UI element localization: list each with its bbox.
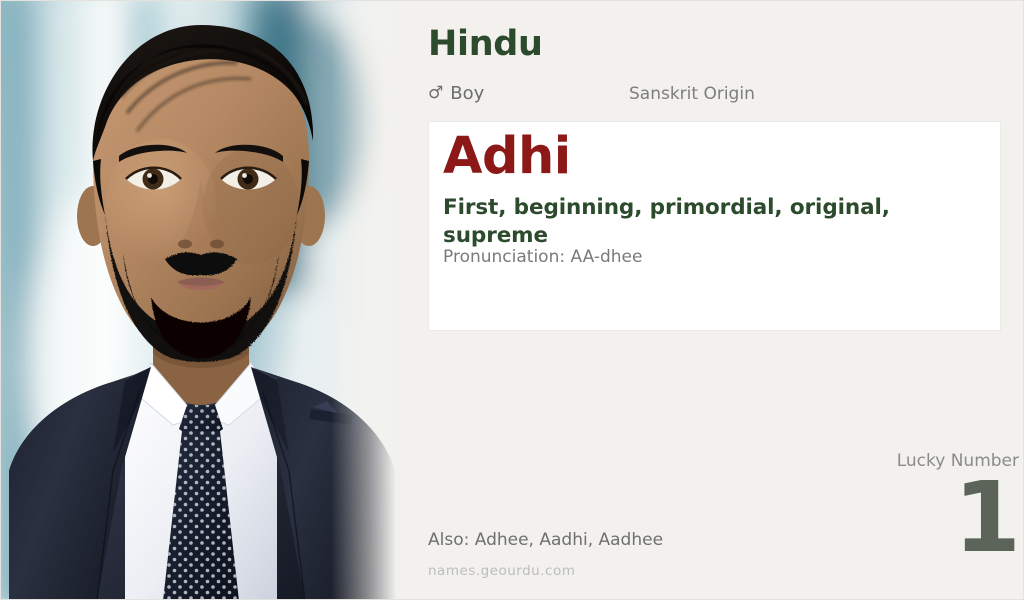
male-gender-icon: ♂ [428, 85, 443, 102]
name-meta-row: ♂ Boy Sanskrit Origin [428, 83, 1008, 107]
name-details-panel: Hindu ♂ Boy Sanskrit Origin Adhi First, … [428, 1, 1024, 600]
name-title: Adhi [443, 130, 571, 184]
portrait-photo-panel [1, 1, 401, 600]
alternate-spellings: Also: Adhee, Aadhi, Aadhee [428, 530, 663, 550]
portrait-photo [1, 1, 401, 600]
gender-group: ♂ Boy [428, 83, 484, 105]
name-meaning: First, beginning, primordial, original, … [443, 194, 963, 249]
name-info-card-page: Hindu ♂ Boy Sanskrit Origin Adhi First, … [0, 0, 1024, 600]
origin-label: Sanskrit Origin [629, 84, 755, 104]
gender-label: Boy [450, 83, 484, 105]
pronunciation-text: Pronunciation: AA-dhee [443, 246, 642, 268]
religion-title: Hindu [428, 27, 543, 62]
lucky-number-group: Lucky Number 1 [759, 451, 1019, 563]
lucky-number-value: 1 [759, 473, 1019, 562]
name-card: Adhi First, beginning, primordial, origi… [428, 121, 1001, 331]
site-watermark: names.geourdu.com [428, 563, 575, 579]
